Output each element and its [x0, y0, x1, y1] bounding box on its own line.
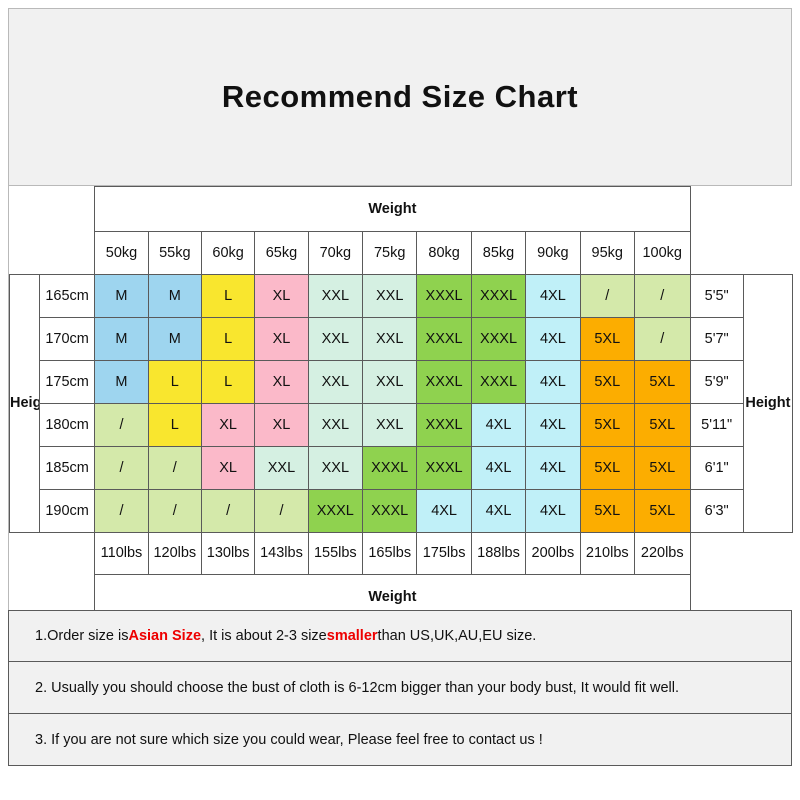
- table-row: 175cmMLLXLXXLXXLXXXLXXXL4XL5XL5XL5'9": [10, 360, 793, 403]
- note-item: 1.Order size is Asian Size, It is about …: [8, 610, 792, 662]
- size-cell-0-1[interactable]: M: [148, 274, 201, 317]
- size-cell-2-8[interactable]: 4XL: [526, 360, 580, 403]
- weight-lbs-header-4: 155lbs: [308, 532, 362, 575]
- height-ft-label-4: 6'1": [690, 446, 743, 489]
- size-cell-5-10[interactable]: 5XL: [634, 489, 690, 532]
- size-cell-3-7[interactable]: 4XL: [471, 403, 525, 446]
- size-cell-4-8[interactable]: 4XL: [526, 446, 580, 489]
- table-row: 190cm////XXXLXXXL4XL4XL4XL5XL5XL6'3": [10, 489, 793, 532]
- note-text: 2. Usually you should choose the bust of…: [35, 680, 679, 696]
- spacer-cell: [743, 532, 792, 575]
- size-cell-4-1[interactable]: /: [148, 446, 201, 489]
- size-cell-0-8[interactable]: 4XL: [526, 274, 580, 317]
- weight-lbs-header-9: 210lbs: [580, 532, 634, 575]
- size-cell-5-0[interactable]: /: [95, 489, 148, 532]
- weight-lbs-row: 110lbs120lbs130lbs143lbs155lbs165lbs175l…: [10, 532, 793, 575]
- size-cell-3-1[interactable]: L: [148, 403, 201, 446]
- note-text: than US,UK,AU,EU size.: [378, 628, 537, 644]
- size-cell-0-5[interactable]: XXL: [363, 274, 417, 317]
- size-cell-1-4[interactable]: XXL: [308, 317, 362, 360]
- height-cm-label-1: 170cm: [39, 317, 94, 360]
- size-cell-5-3[interactable]: /: [255, 489, 308, 532]
- size-cell-1-6[interactable]: XXXL: [417, 317, 471, 360]
- size-cell-3-6[interactable]: XXXL: [417, 403, 471, 446]
- size-cell-2-5[interactable]: XXL: [363, 360, 417, 403]
- table-row: Height165cmMMLXLXXLXXLXXXLXXXL4XL//5'5"H…: [10, 274, 793, 317]
- size-cell-5-2[interactable]: /: [201, 489, 254, 532]
- weight-kg-header-3: 65kg: [255, 232, 308, 275]
- page-title: Recommend Size Chart: [222, 79, 578, 115]
- size-cell-4-7[interactable]: 4XL: [471, 446, 525, 489]
- spacer-cell: [39, 187, 94, 232]
- note-item: 3. If you are not sure which size you co…: [8, 714, 792, 766]
- size-cell-4-6[interactable]: XXXL: [417, 446, 471, 489]
- size-cell-2-10[interactable]: 5XL: [634, 360, 690, 403]
- size-cell-4-5[interactable]: XXXL: [363, 446, 417, 489]
- size-cell-5-9[interactable]: 5XL: [580, 489, 634, 532]
- height-cm-label-5: 190cm: [39, 489, 94, 532]
- size-cell-1-0[interactable]: M: [95, 317, 148, 360]
- size-cell-2-0[interactable]: M: [95, 360, 148, 403]
- weight-kg-row: 50kg55kg60kg65kg70kg75kg80kg85kg90kg95kg…: [10, 232, 793, 275]
- weight-kg-header-4: 70kg: [308, 232, 362, 275]
- height-cm-label-2: 175cm: [39, 360, 94, 403]
- weight-kg-header-8: 90kg: [526, 232, 580, 275]
- size-cell-3-2[interactable]: XL: [201, 403, 254, 446]
- weight-lbs-header-8: 200lbs: [526, 532, 580, 575]
- spacer-cell: [39, 232, 94, 275]
- note-highlight: Asian Size: [128, 628, 201, 644]
- size-cell-0-0[interactable]: M: [95, 274, 148, 317]
- size-cell-5-4[interactable]: XXXL: [308, 489, 362, 532]
- note-highlight: smaller: [327, 628, 378, 644]
- size-cell-4-4[interactable]: XXL: [308, 446, 362, 489]
- size-cell-3-8[interactable]: 4XL: [526, 403, 580, 446]
- size-cell-4-9[interactable]: 5XL: [580, 446, 634, 489]
- size-cell-0-10[interactable]: /: [634, 274, 690, 317]
- size-cell-3-9[interactable]: 5XL: [580, 403, 634, 446]
- weight-lbs-header-5: 165lbs: [363, 532, 417, 575]
- height-cm-label-4: 185cm: [39, 446, 94, 489]
- height-cm-label-3: 180cm: [39, 403, 94, 446]
- size-cell-2-3[interactable]: XL: [255, 360, 308, 403]
- size-cell-5-6[interactable]: 4XL: [417, 489, 471, 532]
- height-ft-label-0: 5'5": [690, 274, 743, 317]
- size-cell-4-3[interactable]: XXL: [255, 446, 308, 489]
- spacer-cell: [743, 187, 792, 232]
- weight-kg-header-6: 80kg: [417, 232, 471, 275]
- size-cell-1-3[interactable]: XL: [255, 317, 308, 360]
- weight-kg-header-10: 100kg: [634, 232, 690, 275]
- size-cell-1-5[interactable]: XXL: [363, 317, 417, 360]
- size-cell-3-4[interactable]: XXL: [308, 403, 362, 446]
- weight-lbs-header-3: 143lbs: [255, 532, 308, 575]
- weight-kg-header-1: 55kg: [148, 232, 201, 275]
- spacer-cell: [10, 232, 40, 275]
- spacer-cell: [690, 532, 743, 575]
- size-cell-3-10[interactable]: 5XL: [634, 403, 690, 446]
- size-cell-5-7[interactable]: 4XL: [471, 489, 525, 532]
- spacer-cell: [690, 232, 743, 275]
- weight-lbs-header-10: 220lbs: [634, 532, 690, 575]
- size-cell-2-2[interactable]: L: [201, 360, 254, 403]
- note-item: 2. Usually you should choose the bust of…: [8, 662, 792, 714]
- weight-kg-header-7: 85kg: [471, 232, 525, 275]
- size-cell-0-6[interactable]: XXXL: [417, 274, 471, 317]
- height-ft-label-1: 5'7": [690, 317, 743, 360]
- weight-lbs-header-1: 120lbs: [148, 532, 201, 575]
- size-cell-1-2[interactable]: L: [201, 317, 254, 360]
- size-table-region: Weight50kg55kg60kg65kg70kg75kg80kg85kg90…: [8, 186, 792, 610]
- weight-header-row: Weight: [10, 187, 793, 232]
- size-cell-0-9[interactable]: /: [580, 274, 634, 317]
- size-cell-5-1[interactable]: /: [148, 489, 201, 532]
- size-cell-1-7[interactable]: XXXL: [471, 317, 525, 360]
- notes-section: 1.Order size is Asian Size, It is about …: [8, 610, 792, 766]
- height-ft-label-3: 5'11": [690, 403, 743, 446]
- weight-lbs-header-7: 188lbs: [471, 532, 525, 575]
- size-cell-4-0[interactable]: /: [95, 446, 148, 489]
- size-chart-page: Recommend Size Chart Weight50kg55: [0, 0, 800, 800]
- table-row: 185cm//XLXXLXXLXXXLXXXL4XL4XL5XL5XL6'1": [10, 446, 793, 489]
- height-cm-label-0: 165cm: [39, 274, 94, 317]
- size-table: Weight50kg55kg60kg65kg70kg75kg80kg85kg90…: [9, 186, 793, 620]
- size-cell-2-1[interactable]: L: [148, 360, 201, 403]
- spacer-cell: [690, 187, 743, 232]
- size-cell-2-7[interactable]: XXXL: [471, 360, 525, 403]
- weight-lbs-header-0: 110lbs: [95, 532, 148, 575]
- size-cell-2-9[interactable]: 5XL: [580, 360, 634, 403]
- size-cell-0-3[interactable]: XL: [255, 274, 308, 317]
- weight-lbs-header-2: 130lbs: [201, 532, 254, 575]
- note-text: , It is about 2-3 size: [201, 628, 327, 644]
- weight-kg-header-2: 60kg: [201, 232, 254, 275]
- spacer-cell: [10, 532, 40, 575]
- size-cell-0-4[interactable]: XXL: [308, 274, 362, 317]
- weight-lbs-header-6: 175lbs: [417, 532, 471, 575]
- size-cell-1-1[interactable]: M: [148, 317, 201, 360]
- weight-kg-header-9: 95kg: [580, 232, 634, 275]
- note-text: 1.Order size is: [35, 628, 128, 644]
- title-band: Recommend Size Chart: [8, 8, 792, 186]
- size-cell-5-5[interactable]: XXXL: [363, 489, 417, 532]
- weight-kg-header-0: 50kg: [95, 232, 148, 275]
- spacer-cell: [39, 532, 94, 575]
- height-ft-label-5: 6'3": [690, 489, 743, 532]
- size-cell-3-0[interactable]: /: [95, 403, 148, 446]
- size-cell-3-5[interactable]: XXL: [363, 403, 417, 446]
- height-header-left: Height: [10, 274, 40, 532]
- size-cell-0-2[interactable]: L: [201, 274, 254, 317]
- height-ft-label-2: 5'9": [690, 360, 743, 403]
- size-cell-1-8[interactable]: 4XL: [526, 317, 580, 360]
- weight-kg-header-5: 75kg: [363, 232, 417, 275]
- note-text: 3. If you are not sure which size you co…: [35, 732, 543, 748]
- table-row: 180cm/LXLXLXXLXXLXXXL4XL4XL5XL5XL5'11": [10, 403, 793, 446]
- size-cell-2-4[interactable]: XXL: [308, 360, 362, 403]
- size-cell-5-8[interactable]: 4XL: [526, 489, 580, 532]
- size-cell-4-10[interactable]: 5XL: [634, 446, 690, 489]
- height-header-right: Height: [743, 274, 792, 532]
- size-cell-1-10[interactable]: /: [634, 317, 690, 360]
- size-cell-0-7[interactable]: XXXL: [471, 274, 525, 317]
- spacer-cell: [10, 187, 40, 232]
- size-cell-2-6[interactable]: XXXL: [417, 360, 471, 403]
- weight-header-top: Weight: [95, 187, 690, 232]
- size-cell-3-3[interactable]: XL: [255, 403, 308, 446]
- spacer-cell: [743, 232, 792, 275]
- size-cell-1-9[interactable]: 5XL: [580, 317, 634, 360]
- table-row: 170cmMMLXLXXLXXLXXXLXXXL4XL5XL/5'7": [10, 317, 793, 360]
- size-cell-4-2[interactable]: XL: [201, 446, 254, 489]
